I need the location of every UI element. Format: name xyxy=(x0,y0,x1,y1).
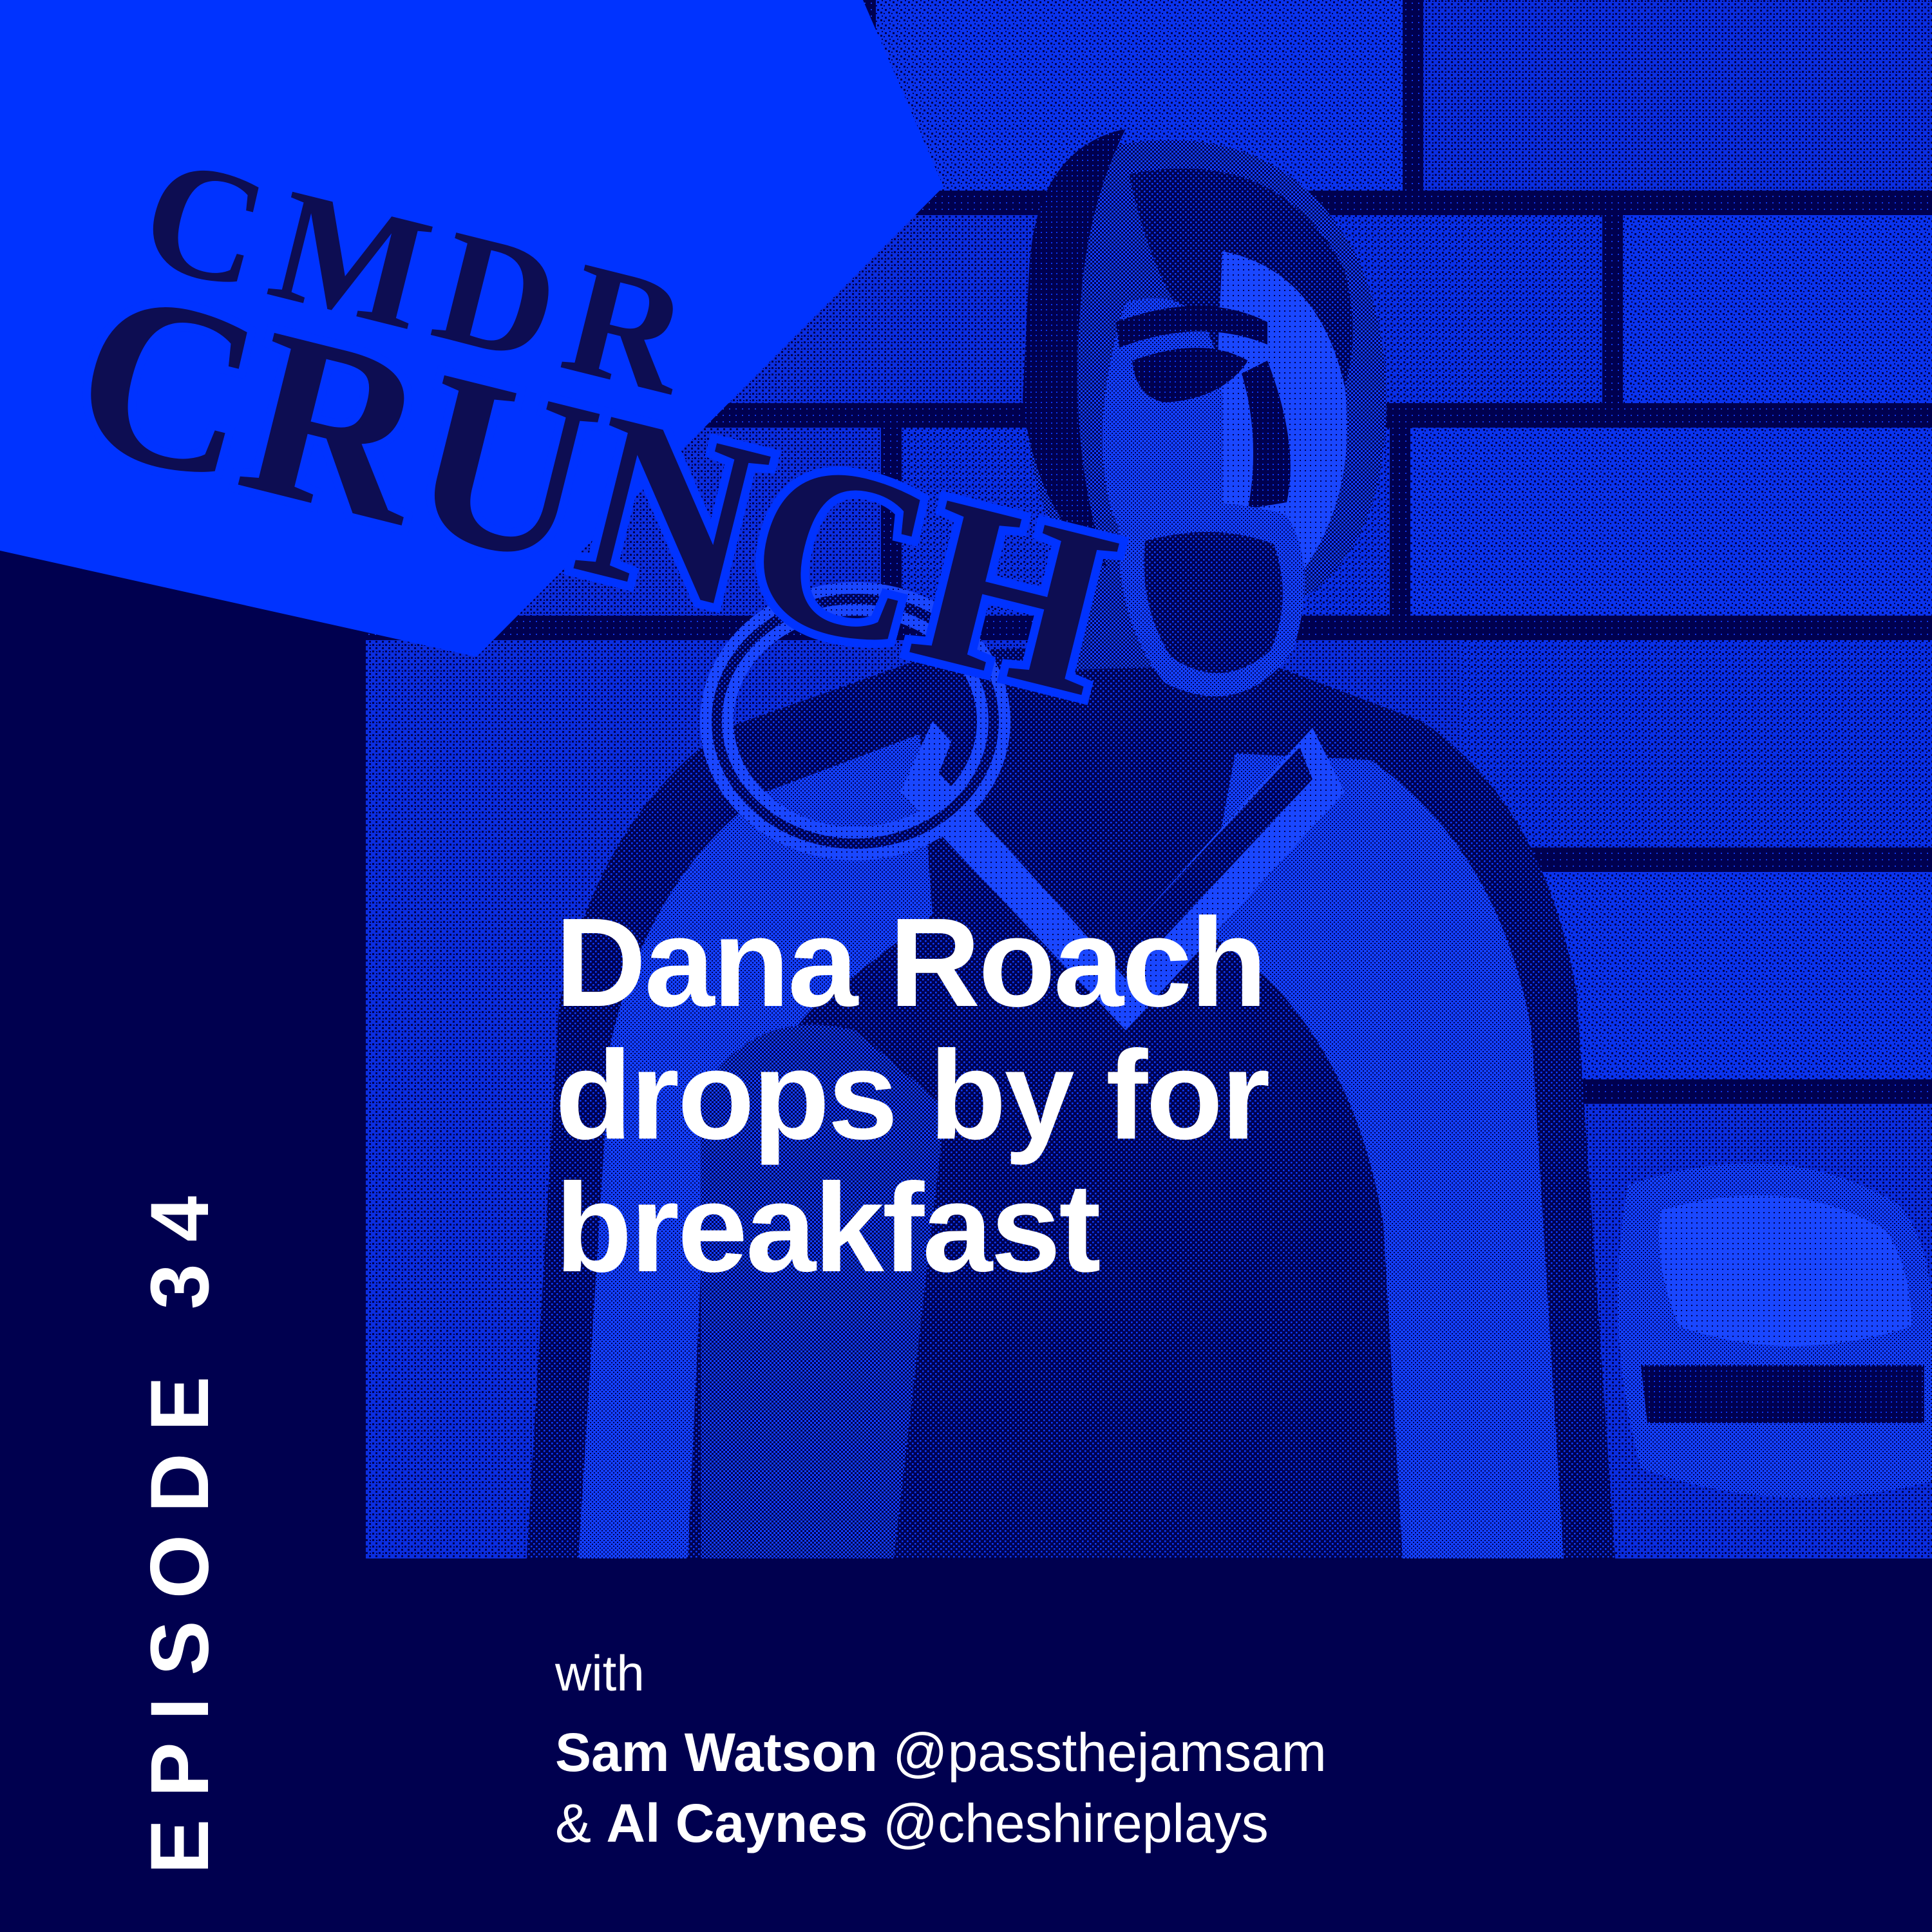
knight-photo-panel xyxy=(366,0,1932,1558)
episode-title-line-1: Dana Roach xyxy=(555,896,1650,1029)
credits-with-label: with xyxy=(555,1643,1779,1704)
knight-armour-knee xyxy=(1618,1163,1932,1497)
host-handle-1: @passthejamsam xyxy=(878,1722,1327,1783)
host-conjunction: & xyxy=(555,1793,606,1853)
host-credit-row: Sam Watson @passthejamsam xyxy=(555,1717,1779,1788)
podcast-cover-art: CMDR CRUNCH EPISODE 34 Dana Roach drops … xyxy=(0,0,1932,1932)
host-name-1: Sam Watson xyxy=(555,1722,878,1783)
knight-photo-illustration xyxy=(366,0,1932,1558)
episode-title-line-2: drops by for xyxy=(555,1029,1650,1162)
episode-number-rail: EPISODE 34 xyxy=(0,869,361,1874)
episode-title-line-3: breakfast xyxy=(555,1162,1650,1294)
episode-rail-label: EPISODE 34 xyxy=(139,1174,222,1874)
episode-title: Dana Roach drops by for breakfast xyxy=(555,896,1650,1294)
host-credits: with Sam Watson @passthejamsam & Al Cayn… xyxy=(555,1643,1779,1859)
host-handle-2: @cheshireplays xyxy=(868,1793,1269,1853)
host-name-2: Al Caynes xyxy=(606,1793,867,1853)
host-credit-row: & Al Caynes @cheshireplays xyxy=(555,1788,1779,1859)
